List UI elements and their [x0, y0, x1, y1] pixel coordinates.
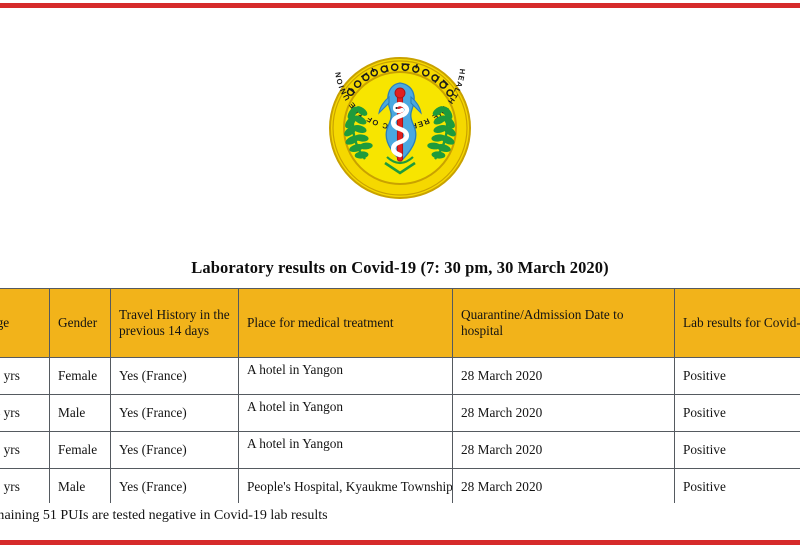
cell-place: A hotel in Yangon — [239, 358, 453, 395]
cell-gender: Male — [50, 395, 111, 432]
cell-quarantine: 28 March 2020 — [453, 358, 675, 395]
cell-place: A hotel in Yangon — [239, 432, 453, 469]
table-row: 29 yrs Female Yes (France) A hotel in Ya… — [0, 432, 800, 469]
cell-gender: Male — [50, 469, 111, 504]
bottom-red-rule — [0, 540, 800, 545]
lab-results-table-container: Age Gender Travel History in the previou… — [0, 288, 800, 503]
table-row: 36 yrs Female Yes (France) A hotel in Ya… — [0, 358, 800, 395]
document-page: MINISTRY OF HEALTH THE REPUBLIC OF THE U… — [0, 8, 800, 540]
column-header-age: Age — [0, 289, 50, 358]
cell-age: 29 yrs — [0, 432, 50, 469]
cell-quarantine: 28 March 2020 — [453, 395, 675, 432]
cell-travel: Yes (France) — [111, 358, 239, 395]
cell-age: 51 yrs — [0, 469, 50, 504]
cell-age: 36 yrs — [0, 358, 50, 395]
cell-gender: Female — [50, 358, 111, 395]
cell-lab-result: Positive — [675, 395, 800, 432]
column-header-lab-result: Lab results for Covid-19 — [675, 289, 800, 358]
cell-place: A hotel in Yangon — [239, 395, 453, 432]
cell-travel: Yes (France) — [111, 395, 239, 432]
column-header-place: Place for medical treatment — [239, 289, 453, 358]
table-row: 51 yrs Male Yes (France) People's Hospit… — [0, 469, 800, 504]
cell-travel: Yes (France) — [111, 432, 239, 469]
cell-lab-result: Positive — [675, 469, 800, 504]
footnote-text: Remaining 51 PUIs are tested negative in… — [0, 508, 798, 524]
cell-lab-result: Positive — [675, 432, 800, 469]
emblem-container: MINISTRY OF HEALTH THE REPUBLIC OF THE U… — [0, 53, 800, 208]
cell-lab-result: Positive — [675, 358, 800, 395]
column-header-travel: Travel History in the previous 14 days — [111, 289, 239, 358]
table-row: 44 yrs Male Yes (France) A hotel in Yang… — [0, 395, 800, 432]
cell-place: People's Hospital, Kyaukme Township, Sha… — [239, 469, 453, 504]
cell-age: 44 yrs — [0, 395, 50, 432]
page-title: Laboratory results on Covid-19 (7: 30 pm… — [0, 258, 800, 278]
table-header-row: Age Gender Travel History in the previou… — [0, 289, 800, 358]
cell-gender: Female — [50, 432, 111, 469]
cell-quarantine: 28 March 2020 — [453, 469, 675, 504]
ministry-of-health-myanmar-emblem-icon: MINISTRY OF HEALTH THE REPUBLIC OF THE U… — [325, 53, 475, 203]
column-header-quarantine: Quarantine/Admission Date to hospital — [453, 289, 675, 358]
lab-results-table: Age Gender Travel History in the previou… — [0, 288, 800, 503]
column-header-gender: Gender — [50, 289, 111, 358]
cell-quarantine: 28 March 2020 — [453, 432, 675, 469]
cell-travel: Yes (France) — [111, 469, 239, 504]
